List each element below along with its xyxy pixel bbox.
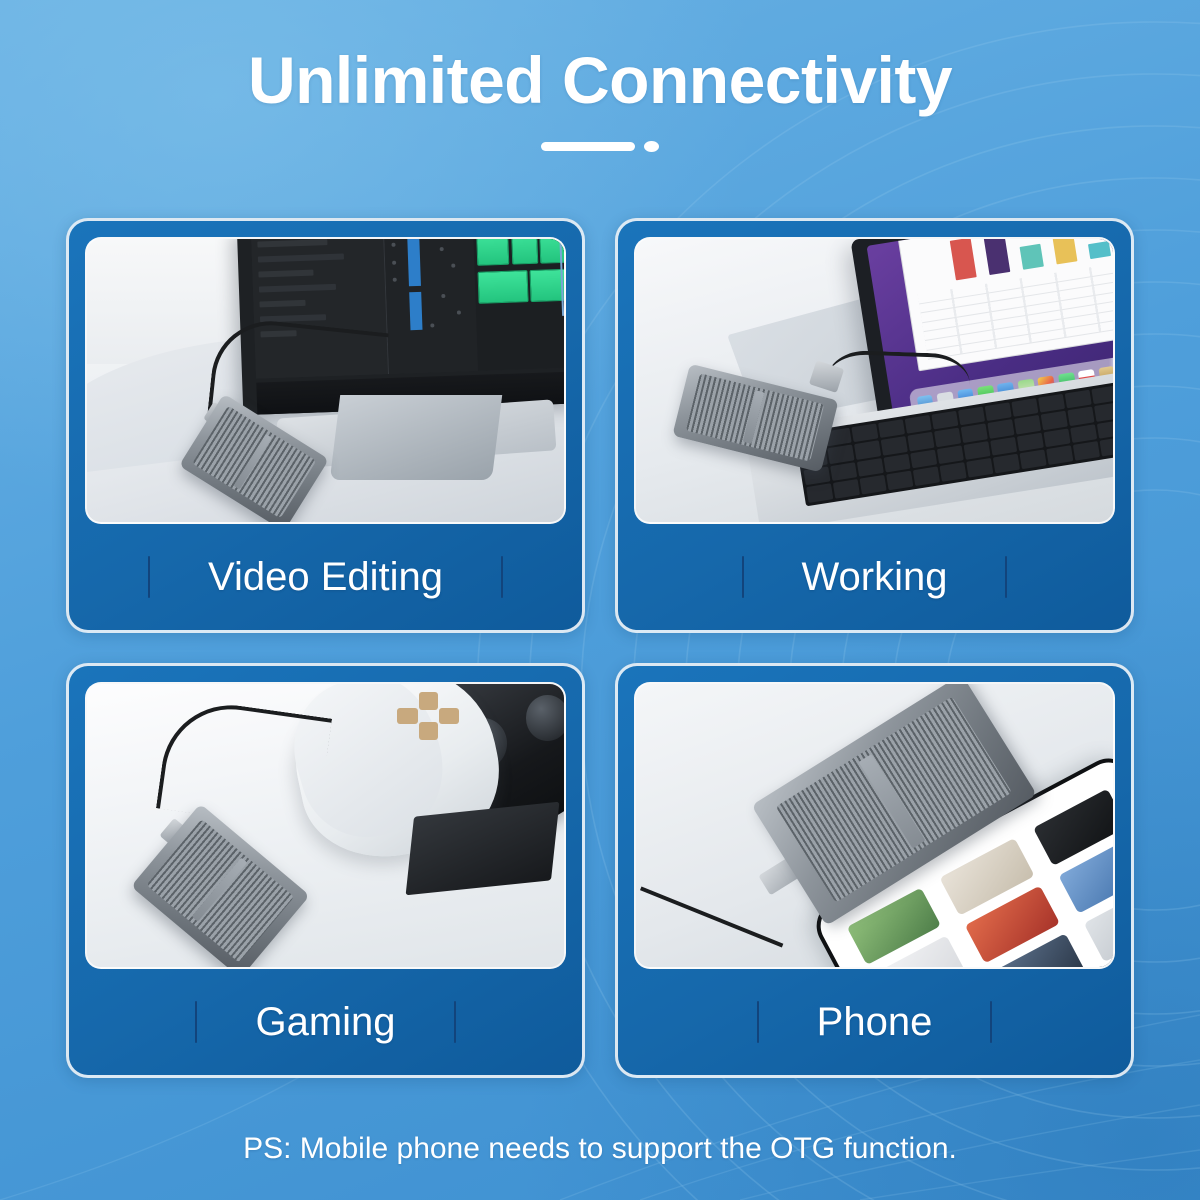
card-caption: Phone bbox=[759, 1000, 991, 1045]
card-caption: Gaming bbox=[197, 1000, 453, 1045]
scene-image-gaming bbox=[85, 682, 566, 969]
caption-row: Working bbox=[634, 524, 1115, 630]
header: Unlimited Connectivity bbox=[0, 46, 1200, 152]
tick-mark-right-icon bbox=[990, 1001, 992, 1043]
caption-row: Video Editing bbox=[85, 524, 566, 630]
feature-card-video-editing[interactable]: Video Editing bbox=[66, 218, 585, 633]
caption-row: Gaming bbox=[85, 969, 566, 1075]
card-caption: Video Editing bbox=[150, 555, 501, 600]
controller-stand-icon bbox=[406, 801, 560, 895]
tick-mark-right-icon bbox=[454, 1001, 456, 1043]
feature-card-working[interactable]: Working bbox=[615, 218, 1134, 633]
footer-note: PS: Mobile phone needs to support the OT… bbox=[0, 1132, 1200, 1166]
divider-bar-icon bbox=[541, 142, 635, 151]
feature-card-grid: Video Editing bbox=[66, 218, 1134, 1078]
tick-mark-right-icon bbox=[501, 556, 503, 598]
spreadsheet-window-icon bbox=[898, 237, 1115, 372]
scene-image-phone bbox=[634, 682, 1115, 969]
scene-image-video-editing bbox=[85, 237, 566, 524]
dpad-icon bbox=[397, 692, 459, 740]
feature-card-gaming[interactable]: Gaming bbox=[66, 663, 585, 1078]
caption-row: Phone bbox=[634, 969, 1115, 1075]
feature-card-phone[interactable]: Phone bbox=[615, 663, 1134, 1078]
promo-page: Unlimited Connectivity bbox=[0, 0, 1200, 1200]
tick-mark-right-icon bbox=[1005, 556, 1007, 598]
scene-image-working bbox=[634, 237, 1115, 524]
title-divider bbox=[0, 141, 1200, 152]
page-title: Unlimited Connectivity bbox=[0, 46, 1200, 115]
divider-dot-icon bbox=[644, 141, 659, 152]
card-caption: Working bbox=[744, 555, 1006, 600]
usb-cable-icon bbox=[826, 350, 971, 400]
